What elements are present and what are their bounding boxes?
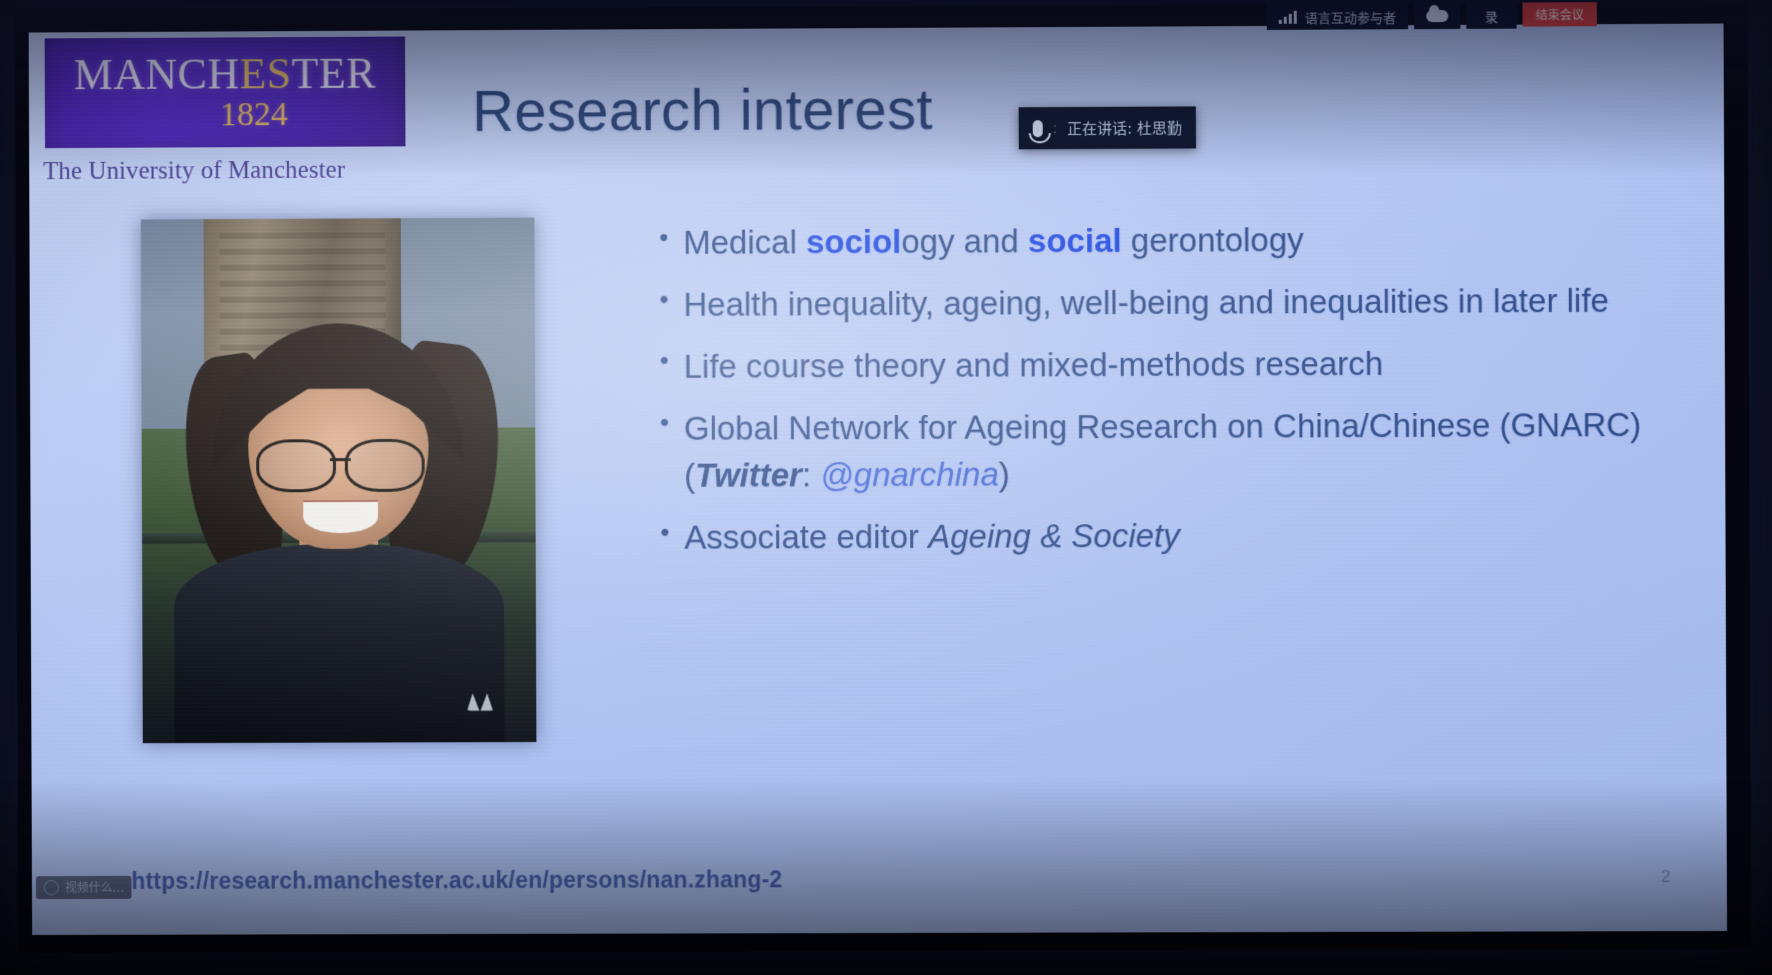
screen-top-edge [15,1,1748,32]
cloud-recording-button[interactable] [1414,3,1460,29]
record-button[interactable]: 录 [1466,3,1516,29]
bullet-text: Health inequality, ageing, well-being an… [683,276,1676,328]
photo-sky [141,218,536,461]
photo-torso [174,543,505,743]
bullet-text: Medical sociology and social gerontology [683,214,1676,266]
active-speaker-bar: : 正在讲话: 杜思勤 [1019,106,1196,149]
bullet-dot-icon: • [659,285,683,311]
bullet-dot-icon: • [660,347,684,373]
bullet-text: Associate editor Ageing & Society [684,510,1677,562]
screen-bezel [15,1,1752,953]
microphone-icon [1033,120,1043,137]
avatar-icon [44,880,59,895]
logo-tagline: The University of Manchester [43,156,441,186]
slide-page-number: 2 [1661,867,1671,887]
photo-hair [212,323,465,576]
dark-room-background: MANCHESTER 1824 The University of Manche… [0,0,1772,975]
leave-meeting-button[interactable]: 结束会议 [1523,2,1597,26]
photo-hair-right [380,339,510,591]
signal-strength-icon [1279,10,1297,23]
bullet-item-associate-editor: •Associate editor Ageing & Society [660,510,1677,562]
active-speaker-label: 正在讲话: 杜思勤 [1067,117,1182,139]
presentation-slide: MANCHESTER 1824 The University of Manche… [29,24,1727,935]
active-speaker-separator: : [1053,120,1057,137]
photo-neck [299,522,378,585]
leave-meeting-label: 结束会议 [1536,6,1584,23]
photo-tower [204,218,402,492]
logo-word-prefix: MANCH [74,49,240,99]
projected-screen: MANCHESTER 1824 The University of Manche… [15,1,1752,953]
bullet-item-life-course-theory: •Life course theory and mixed-methods re… [660,338,1677,390]
photo-jacket-logo [467,691,493,711]
photo-face [248,375,430,549]
logo-wordmark: MANCHESTER [74,52,376,97]
profile-url: https://research.manchester.ac.uk/en/per… [131,866,782,895]
video-participant-label: 视频什么... [65,879,124,896]
bullet-text: Global Network for Ageing Research on Ch… [684,400,1677,500]
conference-status-label: 语言互动参与者 [1305,7,1396,27]
page-title: Research interest [472,76,933,145]
bullet-list: •Medical sociology and social gerontolog… [659,214,1677,576]
photo-smile [303,501,378,533]
university-logo: MANCHESTER 1824 [45,37,406,149]
conference-status-bar: 语言互动参与者 [1267,3,1409,30]
bullet-item-health-inequality: •Health inequality, ageing, well-being a… [659,276,1676,328]
bullet-item-gnarc: •Global Network for Ageing Research on C… [660,400,1677,500]
speaker-portrait-photo [141,218,537,744]
bullet-dot-icon: • [659,224,683,250]
bullet-text: Life course theory and mixed-methods res… [684,338,1677,390]
cloud-icon [1426,10,1448,22]
projector-illumination [29,24,1727,935]
record-label: 录 [1485,6,1498,25]
camera-scanlines [29,24,1727,935]
logo-year: 1824 [220,98,288,132]
bullet-item-medical-sociology: •Medical sociology and social gerontolog… [659,214,1676,267]
bullet-dot-icon: • [660,519,684,545]
photo-railing [142,532,536,543]
logo-word-suffix: TER [292,49,376,98]
bullet-dot-icon: • [660,409,684,435]
logo-word-gold: ES [239,49,291,98]
video-participant-tag: 视频什么... [36,876,132,899]
photo-glasses [256,438,425,486]
photo-hair-left [173,350,292,591]
photo-ground [142,427,537,743]
